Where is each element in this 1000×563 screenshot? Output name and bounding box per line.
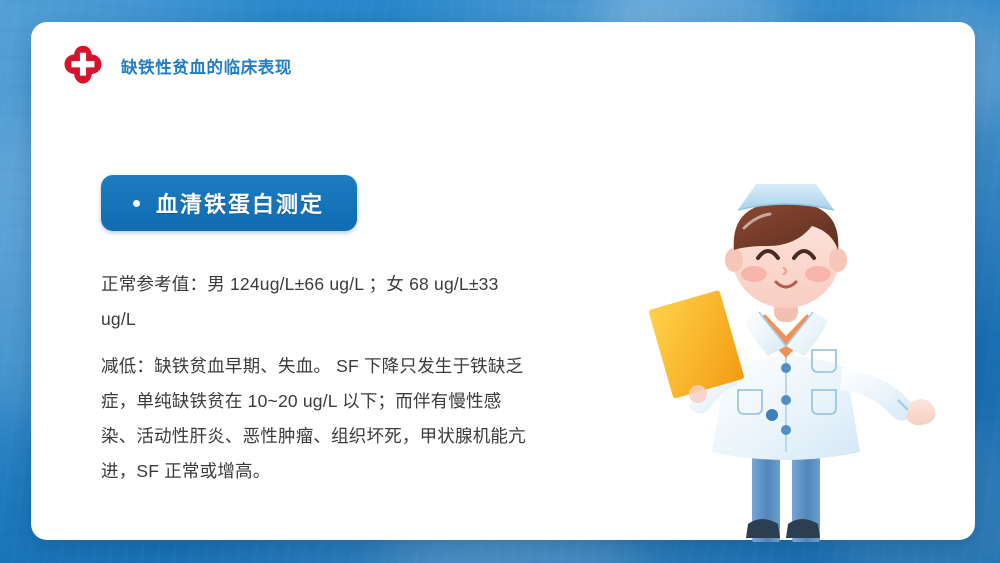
bullet-dot-icon <box>133 200 140 207</box>
stethoscope-icon <box>766 409 778 421</box>
right-hand <box>906 399 935 425</box>
slide-root: 缺铁性贫血的临床表现 血清铁蛋白测定 正常参考值：男 124ug/L±66 ug… <box>0 0 1000 563</box>
content-card: 缺铁性贫血的临床表现 血清铁蛋白测定 正常参考值：男 124ug/L±66 ug… <box>31 22 975 540</box>
nurse-doctor-illustration <box>626 172 966 542</box>
shoes <box>746 519 820 538</box>
page-title: 缺铁性贫血的临床表现 <box>121 54 292 78</box>
body-paragraph: 正常参考值：男 124ug/L±66 ug/L ；女 68 ug/L±33 ug… <box>101 267 531 337</box>
section-heading-label: 血清铁蛋白测定 <box>156 187 324 219</box>
red-cross-medical-icon <box>61 44 105 88</box>
yellow-folder <box>648 290 744 399</box>
slide-header: 缺铁性贫血的临床表现 <box>61 44 292 88</box>
section-heading-pill: 血清铁蛋白测定 <box>101 175 357 231</box>
body-text-block: 正常参考值：男 124ug/L±66 ug/L ；女 68 ug/L±33 ug… <box>101 267 531 489</box>
body-paragraph: 减低：缺铁贫血早期、失血。 SF 下降只发生于铁缺乏症，单纯缺铁贫在 10~20… <box>101 349 531 489</box>
